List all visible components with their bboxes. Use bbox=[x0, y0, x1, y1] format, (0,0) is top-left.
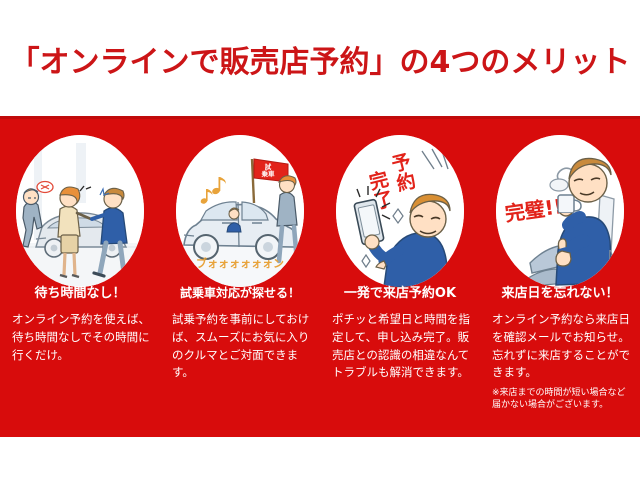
benefit-2-body: 試乗予約を事前にしておけば、スムーズにお気に入りのクルマとご対面できます。 bbox=[172, 311, 312, 382]
svg-text:M: M bbox=[608, 248, 618, 262]
benefit-4-note: ※来店までの時間が短い場合など届かない場合がございます。 bbox=[492, 387, 634, 411]
smartphone-booking-complete-illustration: 完 了 予 約 bbox=[336, 135, 464, 287]
benefit-4-illustration-wrap: 完璧!! bbox=[496, 135, 624, 287]
svg-text:乗車: 乗車 bbox=[261, 169, 276, 178]
benefit-1-title: 待ち時間なし！ bbox=[0, 287, 160, 301]
benefit-2-illustration-wrap: 試 乗車 bbox=[176, 135, 304, 287]
promo-poster: 「オンラインで販売店予約」の4つのメリット bbox=[0, 0, 640, 480]
benefit-column-1: 待ち時間なし！ オンライン予約を使えば、待ち時間なしでその時間に行くだけ。 bbox=[0, 119, 160, 440]
red-content-panel: 待ち時間なし！ オンライン予約を使えば、待ち時間なしでその時間に行くだけ。 bbox=[0, 116, 640, 437]
benefit-1-body: オンライン予約を使えば、待ち時間なしでその時間に行くだけ。 bbox=[12, 311, 152, 364]
benefits-columns: 待ち時間なし！ オンライン予約を使えば、待ち時間なしでその時間に行くだけ。 bbox=[0, 119, 640, 440]
benefit-3-illustration-wrap: 完 了 予 約 bbox=[336, 135, 464, 287]
benefit-3-title: 一発で来店予約OK bbox=[320, 287, 480, 301]
page-title: 「オンラインで販売店予約」の4つのメリット bbox=[10, 48, 631, 78]
benefit-4-body: オンライン予約なら来店日を確認メールでお知らせ。忘れずに来店することができます。 bbox=[492, 311, 632, 382]
benefit-2-title: 試乗車対応が探せる！ bbox=[160, 287, 320, 300]
benefit-column-2: 試 乗車 bbox=[160, 119, 320, 440]
benefit-1-illustration-wrap bbox=[16, 135, 144, 287]
benefit-column-3: 完 了 予 約 bbox=[320, 119, 480, 440]
test-drive-car-illustration: 試 乗車 bbox=[176, 135, 304, 287]
benefit-4-title: 来店日を忘れない！ bbox=[480, 287, 640, 301]
poster-header: 「オンラインで販売店予約」の4つのメリット bbox=[0, 0, 640, 116]
benefit-3-body: ポチッと希望日と時間を指定して、申し込み完了。販売店との認識の相違なんてトラブル… bbox=[332, 311, 472, 382]
footer-spacer bbox=[0, 437, 640, 480]
showroom-waiting-customers-illustration bbox=[16, 135, 144, 287]
sound-effect-text: ブォォォォォォン bbox=[196, 256, 284, 270]
relaxed-man-thumbs-up-illustration: 完璧!! bbox=[496, 135, 624, 287]
benefit-column-4: 完璧!! bbox=[480, 119, 640, 440]
